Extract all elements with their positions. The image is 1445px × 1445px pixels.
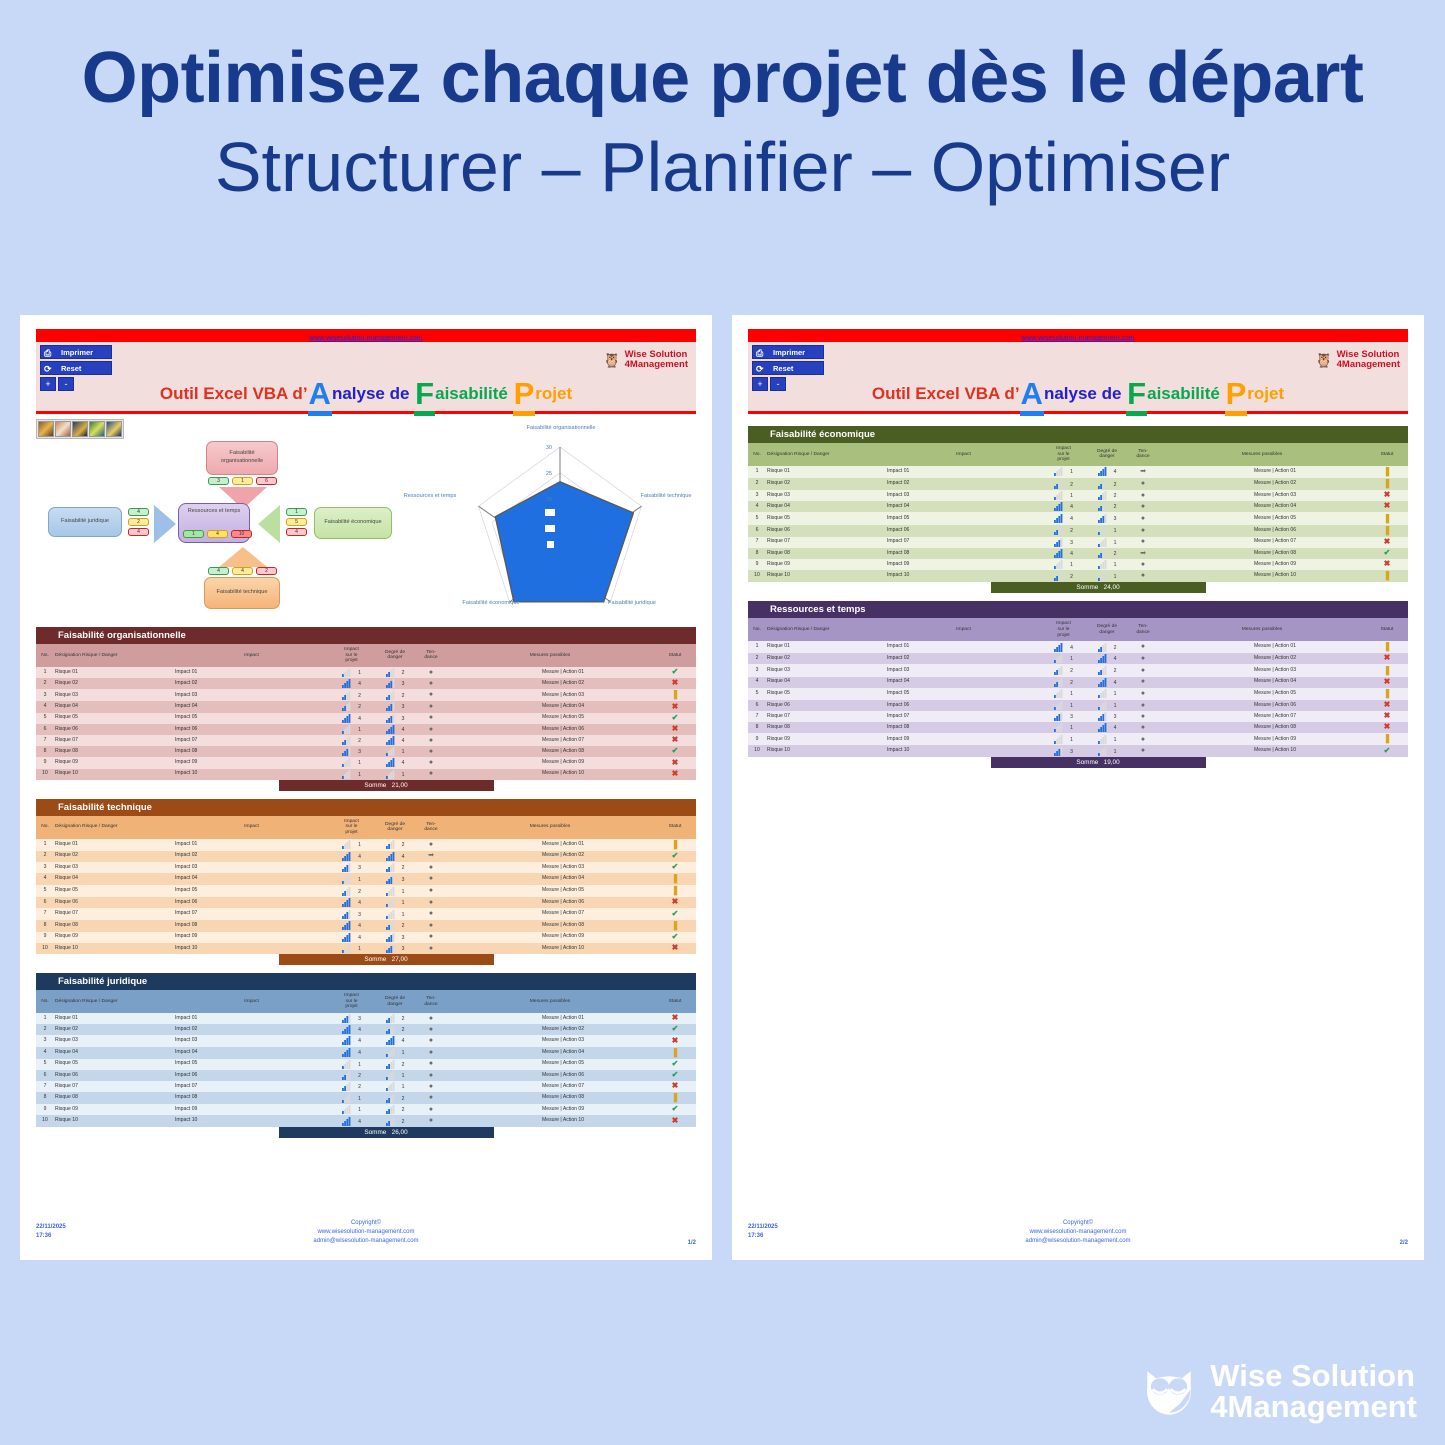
diagram-label-ressources: Ressources et temps (179, 504, 249, 515)
table-row[interactable]: 8Risque 08Impact 0842➡Mesure | Action 08… (748, 548, 1408, 559)
cell-impact: Impact 10 (174, 769, 329, 780)
cell-no: 5 (36, 885, 54, 897)
cell-mesure: Mesure | Action 01 (446, 839, 654, 851)
cell-risk: Risque 07 (766, 537, 886, 548)
cell-tendance: ● (416, 757, 446, 768)
cell-tendance: ● (1128, 478, 1158, 490)
cell-risk: Risque 07 (54, 908, 174, 919)
status-fail-icon: ✖ (672, 1081, 679, 1090)
level-bar-icon (386, 921, 395, 930)
cell-risk: Risque 01 (766, 641, 886, 653)
somme-label: Somme (364, 956, 386, 963)
title-cap-f: F (1126, 376, 1147, 416)
cell-tendance: ● (416, 1104, 446, 1115)
trend-stable-icon: ● (429, 770, 433, 777)
col-impact: Impact (174, 644, 329, 667)
cell-impact: Impact 01 (174, 839, 329, 851)
cell-degre-danger: 2 (374, 689, 416, 701)
cell-risk: Risque 10 (54, 1115, 174, 1126)
cell-no: 1 (748, 466, 766, 478)
table-row[interactable]: 4Risque 04Impact 0442●Mesure | Action 04… (748, 501, 1408, 512)
table-row[interactable]: 3Risque 03Impact 0332●Mesure | Action 03… (36, 862, 696, 873)
cell-impact-projet: 4 (1041, 641, 1086, 653)
trend-stable-icon: ● (429, 691, 433, 698)
cell-risk: Risque 09 (54, 757, 174, 768)
table-row[interactable]: 4Risque 04Impact 0424●Mesure | Action 04… (748, 677, 1408, 688)
cell-tendance: ● (416, 735, 446, 746)
cell-impact: Impact 04 (174, 701, 329, 712)
cell-no: 3 (36, 689, 54, 701)
col-impact-projet: Impactsur leprojet (329, 816, 374, 839)
footer-email[interactable]: admin@wisesolution-management.com (748, 1237, 1408, 1246)
cell-impact: Impact 01 (174, 667, 329, 678)
cell-degre-danger: 1 (374, 769, 416, 780)
title-cap-p: P (513, 376, 536, 416)
cell-impact-projet: 4 (329, 1024, 374, 1035)
level-bar-icon (342, 933, 351, 942)
wise-solution-watermark-logo: Wise Solution 4Management (1140, 1360, 1417, 1423)
cell-mesure: Mesure | Action 02 (1158, 653, 1366, 664)
trend-stable-icon: ● (429, 1072, 433, 1079)
table-row[interactable]: 5Risque 05Impact 0521●Mesure | Action 05… (36, 885, 696, 897)
table-row[interactable]: 10Risque 10Impact 1013●Mesure | Action 1… (36, 943, 696, 954)
level-bar-icon (1098, 654, 1107, 663)
trend-flat-icon: ● (429, 1117, 433, 1124)
level-bar-icon (1098, 526, 1107, 535)
cell-tendance: ● (1128, 559, 1158, 570)
footer-email[interactable]: admin@wisesolution-management.com (36, 1237, 696, 1246)
cell-impact-projet: 1 (1041, 688, 1086, 700)
footer-website[interactable]: www.wisesolution-management.com (748, 1228, 1408, 1237)
diagram-box-ressources: Ressources et temps 1 4 10 (178, 503, 250, 543)
brand-name-line-2: 4Management (1337, 360, 1400, 370)
cell-no: 8 (36, 1092, 54, 1104)
website-link[interactable]: www.wisesolution-management.com (1021, 335, 1134, 342)
status-ok-icon: ✔ (672, 1059, 679, 1068)
cell-impact-projet: 4 (329, 1047, 374, 1059)
table-row[interactable]: 5Risque 05Impact 0512●Mesure | Action 05… (36, 1059, 696, 1070)
risk-table: Faisabilité économiqueNo.Désignation Ris… (748, 426, 1408, 593)
cell-impact: Impact 09 (886, 559, 1041, 570)
status-fail-icon: ✖ (672, 1036, 679, 1045)
cell-degre-danger: 2 (1086, 641, 1128, 653)
cell-mesure: Mesure | Action 02 (1158, 478, 1366, 490)
cell-tendance: ● (416, 1070, 446, 1081)
table-row[interactable]: 10Risque 10Impact 1031●Mesure | Action 1… (748, 745, 1408, 756)
cell-impact: Impact 03 (174, 689, 329, 701)
cell-statut: ❚ (1366, 641, 1408, 653)
cell-mesure: Mesure | Action 06 (446, 724, 654, 735)
cell-impact-projet: 3 (329, 1013, 374, 1024)
level-bar-icon (386, 1060, 395, 1069)
cell-no: 6 (748, 700, 766, 711)
table-row[interactable]: 7Risque 07Impact 0724●Mesure | Action 07… (36, 735, 696, 746)
cell-statut: ✔ (1366, 745, 1408, 756)
cell-degre-danger: 2 (1086, 490, 1128, 501)
cell-impact-projet: 4 (329, 932, 374, 943)
table-row[interactable]: 2Risque 02Impact 0214●Mesure | Action 02… (748, 653, 1408, 664)
table-row[interactable]: 5Risque 05Impact 0543●Mesure | Action 05… (36, 713, 696, 724)
level-bar-icon (342, 863, 351, 872)
cell-statut: ❚ (654, 873, 696, 885)
badge-green: 3 (208, 477, 229, 485)
table-row[interactable]: 5Risque 05Impact 0543●Mesure | Action 05… (748, 512, 1408, 524)
col-impact: Impact (174, 816, 329, 839)
table-row[interactable]: 2Risque 02Impact 0222●Mesure | Action 02… (748, 478, 1408, 490)
diagram-label-juridique: Faisabilité juridique (61, 518, 109, 526)
status-fail-icon: ✖ (672, 678, 679, 687)
table-row[interactable]: 1Risque 01Impact 0112●Mesure | Action 01… (36, 839, 696, 851)
cell-tendance: ● (416, 724, 446, 735)
brand-logo-header: 🦉 Wise Solution 4Management (603, 350, 688, 370)
trend-stable-icon: ● (1141, 515, 1145, 522)
col-no: No. (36, 816, 54, 839)
trend-stable-icon: ● (429, 875, 433, 882)
trend-stable-icon: ● (429, 1060, 433, 1067)
cell-tendance: ● (416, 1092, 446, 1104)
cell-no: 6 (748, 525, 766, 537)
table-row[interactable]: 6Risque 06Impact 0641●Mesure | Action 06… (36, 897, 696, 908)
footer-page-number: 1/2 (688, 1240, 696, 1246)
table-row[interactable]: 1Risque 01Impact 0112●Mesure | Action 01… (36, 667, 696, 678)
cell-impact-projet: 1 (1041, 733, 1086, 745)
cell-tendance: ● (416, 701, 446, 712)
trend-stable-icon: ● (1141, 724, 1145, 731)
cell-impact-projet: 1 (1041, 490, 1086, 501)
trend-stable-icon: ● (1141, 503, 1145, 510)
cell-mesure: Mesure | Action 01 (446, 667, 654, 678)
cell-degre-danger: 1 (374, 1047, 416, 1059)
trend-stable-icon: ● (1141, 480, 1145, 487)
cell-degre-danger: 1 (374, 908, 416, 919)
table-row[interactable]: 8Risque 08Impact 0814●Mesure | Action 08… (748, 722, 1408, 733)
table-row[interactable]: 7Risque 07Impact 0731●Mesure | Action 07… (748, 537, 1408, 548)
cell-statut: ❚ (654, 1092, 696, 1104)
cell-mesure: Mesure | Action 10 (1158, 745, 1366, 756)
cell-impact-projet: 2 (1041, 664, 1086, 676)
table-row[interactable]: 4Risque 04Impact 0441●Mesure | Action 04… (36, 1047, 696, 1059)
table-row[interactable]: 7Risque 07Impact 0733●Mesure | Action 07… (748, 711, 1408, 722)
table-row[interactable]: 2Risque 02Impact 0243●Mesure | Action 02… (36, 678, 696, 689)
cell-impact: Impact 10 (174, 1115, 329, 1126)
level-bar-icon (1054, 735, 1063, 744)
cell-impact: Impact 04 (174, 873, 329, 885)
badge-green: 4 (128, 508, 149, 516)
status-warning-icon: ❚ (1384, 570, 1391, 580)
title-word-projet: rojet (1247, 384, 1284, 403)
col-no: No. (36, 990, 54, 1013)
status-fail-icon: ✖ (672, 943, 679, 952)
cell-mesure: Mesure | Action 09 (1158, 559, 1366, 570)
cell-degre-danger: 3 (374, 713, 416, 724)
diagram-box-organisationnelle: Faisabilité organisationnelle (206, 441, 278, 475)
cell-degre-danger: 1 (374, 885, 416, 897)
level-bar-icon (1098, 712, 1107, 721)
title-cap-a: A (308, 376, 332, 416)
trend-stable-icon: ● (429, 669, 433, 676)
cell-no: 1 (36, 839, 54, 851)
cell-risk: Risque 08 (54, 746, 174, 757)
table-row[interactable]: 10Risque 10Impact 1011●Mesure | Action 1… (36, 769, 696, 780)
cell-tendance: ● (416, 1115, 446, 1126)
level-bar-icon (342, 679, 351, 688)
level-bar-icon (342, 758, 351, 767)
status-fail-icon: ✖ (1384, 490, 1391, 499)
radar-axis-label-economique: Faisabilité économique (462, 600, 520, 607)
cell-impact: Impact 05 (174, 713, 329, 724)
table-title: Faisabilité technique (36, 799, 696, 816)
cell-impact-projet: 1 (329, 724, 374, 735)
badge-red: 4 (286, 528, 307, 536)
status-fail-icon: ✖ (672, 735, 679, 744)
somme-value: 26,00 (392, 1129, 408, 1136)
cell-degre-danger: 1 (374, 1070, 416, 1081)
footer-website[interactable]: www.wisesolution-management.com (36, 1228, 696, 1237)
level-bar-icon (386, 1094, 395, 1103)
cell-impact: Impact 03 (174, 862, 329, 873)
status-fail-icon: ✖ (1384, 711, 1391, 720)
diagram-box-technique: Faisabilité technique (204, 577, 280, 609)
cell-impact: Impact 08 (174, 920, 329, 932)
table-row[interactable]: 7Risque 07Impact 0731●Mesure | Action 07… (36, 908, 696, 919)
table-row[interactable]: 8Risque 08Impact 0812●Mesure | Action 08… (36, 1092, 696, 1104)
cell-no: 4 (748, 677, 766, 688)
cell-no: 8 (36, 920, 54, 932)
table-row[interactable]: 1Risque 01Impact 0132●Mesure | Action 01… (36, 1013, 696, 1024)
table-row[interactable]: 6Risque 06Impact 0621●Mesure | Action 06… (36, 1070, 696, 1081)
cell-impact: Impact 02 (174, 1024, 329, 1035)
badge-red: 10 (231, 530, 252, 538)
level-bar-icon (386, 1105, 395, 1114)
cell-no: 9 (748, 733, 766, 745)
tool-header-band: ⎙ Imprimer ⟳ Reset + - 🦉 Wise Solution 4… (36, 342, 696, 414)
table-title: Faisabilité organisationnelle (36, 627, 696, 644)
cell-tendance: ● (1128, 722, 1158, 733)
cell-impact: Impact 04 (886, 501, 1041, 512)
cell-impact-projet: 4 (329, 897, 374, 908)
level-bar-icon (1098, 572, 1107, 581)
cell-mesure: Mesure | Action 03 (446, 689, 654, 701)
table-row[interactable]: 6Risque 06Impact 0614●Mesure | Action 06… (36, 724, 696, 735)
cell-impact-projet: 4 (1041, 501, 1086, 512)
cell-degre-danger: 3 (374, 932, 416, 943)
trend-stable-icon: ● (429, 1094, 433, 1101)
cell-impact: Impact 06 (886, 700, 1041, 711)
cell-mesure: Mesure | Action 09 (446, 757, 654, 768)
document-page-1[interactable]: www.wisesolution-management.com ⎙ Imprim… (20, 315, 712, 1260)
cell-mesure: Mesure | Action 01 (1158, 641, 1366, 653)
table-row[interactable]: 6Risque 06Impact 0611●Mesure | Action 06… (748, 700, 1408, 711)
table-row[interactable]: 4Risque 04Impact 0413●Mesure | Action 04… (36, 873, 696, 885)
cell-degre-danger: 3 (1086, 512, 1128, 524)
cell-degre-danger: 2 (1086, 664, 1128, 676)
level-bar-icon (386, 1036, 395, 1045)
title-cap-f: F (414, 376, 435, 416)
table-total-row: Somme 24,00 (748, 582, 1408, 593)
trend-flat-icon: ● (1141, 561, 1145, 568)
cell-statut: ✔ (654, 713, 696, 724)
cell-mesure: Mesure | Action 07 (446, 1081, 654, 1092)
table-row[interactable]: 3Risque 03Impact 0312●Mesure | Action 03… (748, 490, 1408, 501)
cell-risk: Risque 09 (766, 559, 886, 570)
print-button[interactable]: ⎙ Imprimer (752, 345, 824, 359)
cell-statut: ❚ (654, 885, 696, 897)
level-bar-icon (342, 736, 351, 745)
table-row[interactable]: 6Risque 06Impact 0621●Mesure | Action 06… (748, 525, 1408, 537)
cell-no: 10 (36, 769, 54, 780)
table-row[interactable]: 10Risque 10Impact 1021●Mesure | Action 1… (748, 570, 1408, 582)
website-link[interactable]: www.wisesolution-management.com (309, 335, 422, 342)
cell-mesure: Mesure | Action 07 (1158, 537, 1366, 548)
level-bar-icon (342, 1071, 351, 1080)
table-row[interactable]: 8Risque 08Impact 0831●Mesure | Action 08… (36, 746, 696, 757)
table-row[interactable]: 3Risque 03Impact 0344●Mesure | Action 03… (36, 1035, 696, 1046)
cell-impact-projet: 2 (1041, 677, 1086, 688)
cell-impact-projet: 1 (1041, 722, 1086, 733)
cell-no: 9 (748, 559, 766, 570)
footer-date: 22/11/2025 (36, 1223, 66, 1232)
level-bar-icon (386, 691, 395, 700)
col-degre-danger: Degré dedanger (374, 644, 416, 667)
trend-stable-icon: ● (1141, 736, 1145, 743)
level-bar-icon (1098, 747, 1107, 756)
cell-no: 6 (36, 1070, 54, 1081)
cell-impact: Impact 06 (174, 897, 329, 908)
trend-stable-icon: ● (429, 899, 433, 906)
cell-statut: ✖ (654, 757, 696, 768)
cell-no: 7 (36, 908, 54, 919)
cell-impact-projet: 4 (329, 1035, 374, 1046)
col-tendance: Ten-dance (1128, 443, 1158, 466)
cell-impact-projet: 4 (329, 851, 374, 862)
cell-mesure: Mesure | Action 09 (446, 1104, 654, 1115)
col-impact: Impact (174, 990, 329, 1013)
trend-stable-icon: ● (1141, 655, 1145, 662)
cell-degre-danger: 4 (374, 724, 416, 735)
somme-label: Somme (364, 782, 386, 789)
cell-statut: ✖ (1366, 700, 1408, 711)
cell-degre-danger: 1 (374, 897, 416, 908)
level-bar-icon (386, 725, 395, 734)
table-row[interactable]: 1Risque 01Impact 0114➡Mesure | Action 01… (748, 466, 1408, 478)
table-row[interactable]: 9Risque 09Impact 0914●Mesure | Action 09… (36, 757, 696, 768)
cell-statut: ✖ (1366, 501, 1408, 512)
level-bar-icon (386, 910, 395, 919)
cell-degre-danger: 2 (1086, 501, 1128, 512)
title-cap-p: P (1225, 376, 1248, 416)
document-page-2[interactable]: www.wisesolution-management.com ⎙ Imprim… (732, 315, 1424, 1260)
print-button-label: Imprimer (61, 348, 93, 357)
table-row[interactable]: 2Risque 02Impact 0242●Mesure | Action 02… (36, 1024, 696, 1035)
table-row[interactable]: 9Risque 09Impact 0912●Mesure | Action 09… (36, 1104, 696, 1115)
col-risk: Désignation Risque / Danger (54, 990, 174, 1013)
trend-stable-icon: ● (429, 748, 433, 755)
table-row[interactable]: 3Risque 03Impact 0322●Mesure | Action 03… (748, 664, 1408, 676)
footer-date: 22/11/2025 (748, 1223, 778, 1232)
level-bar-icon (1054, 666, 1063, 675)
cell-statut: ✔ (654, 932, 696, 943)
table-row[interactable]: 5Risque 05Impact 0511●Mesure | Action 05… (748, 688, 1408, 700)
cell-no: 2 (748, 653, 766, 664)
title-word-faisabilite: aisabilité (1147, 384, 1220, 403)
badge-yellow: 5 (286, 518, 307, 526)
table-row[interactable]: 9Risque 09Impact 0911●Mesure | Action 09… (748, 733, 1408, 745)
table-row[interactable]: 7Risque 07Impact 0721●Mesure | Action 07… (36, 1081, 696, 1092)
cell-mesure: Mesure | Action 10 (446, 943, 654, 954)
trend-flat-icon: ● (429, 922, 433, 929)
cell-no: 2 (36, 851, 54, 862)
cell-tendance: ● (1128, 537, 1158, 548)
status-fail-icon: ✖ (1384, 722, 1391, 731)
cell-tendance: ● (416, 897, 446, 908)
level-bar-icon (1054, 560, 1063, 569)
level-bar-icon (342, 910, 351, 919)
cell-risk: Risque 08 (54, 920, 174, 932)
cell-degre-danger: 4 (1086, 677, 1128, 688)
level-bar-icon (1054, 526, 1063, 535)
cell-statut: ✔ (654, 851, 696, 862)
cell-no: 5 (36, 1059, 54, 1070)
cell-tendance: ● (1128, 733, 1158, 745)
cell-risk: Risque 10 (766, 570, 886, 582)
table-row[interactable]: 8Risque 08Impact 0842●Mesure | Action 08… (36, 920, 696, 932)
level-bar-icon (386, 702, 395, 711)
level-bar-icon (342, 944, 351, 953)
status-warning-icon: ❚ (1384, 641, 1391, 651)
owl-icon: 🦉 (1315, 353, 1332, 367)
trend-stable-icon: ● (1141, 667, 1145, 674)
cell-impact: Impact 02 (174, 851, 329, 862)
diagram-label-organisationnelle: Faisabilité organisationnelle (209, 450, 275, 465)
table-row[interactable]: 9Risque 09Impact 0911●Mesure | Action 09… (748, 559, 1408, 570)
table-row[interactable]: 10Risque 10Impact 1042●Mesure | Action 1… (36, 1115, 696, 1126)
level-bar-icon (342, 1025, 351, 1034)
level-bar-icon (1054, 491, 1063, 500)
cell-impact: Impact 03 (886, 664, 1041, 676)
table-title: Faisabilité économique (748, 426, 1408, 443)
cell-degre-danger: 1 (1086, 700, 1128, 711)
trend-stable-icon: ● (429, 680, 433, 687)
level-bar-icon (1054, 654, 1063, 663)
status-fail-icon: ✖ (1384, 559, 1391, 568)
cell-statut: ✖ (654, 943, 696, 954)
col-tendance: Ten-dance (416, 816, 446, 839)
cell-tendance: ● (416, 839, 446, 851)
cell-tendance: ● (416, 1059, 446, 1070)
table-row[interactable]: 2Risque 02Impact 0244➡Mesure | Action 02… (36, 851, 696, 862)
cell-no: 3 (36, 1035, 54, 1046)
risk-table-grid: No.Désignation Risque / DangerImpactImpa… (748, 618, 1408, 756)
risk-table: Ressources et tempsNo.Désignation Risque… (748, 601, 1408, 767)
table-row[interactable]: 9Risque 09Impact 0943●Mesure | Action 09… (36, 932, 696, 943)
print-button[interactable]: ⎙ Imprimer (40, 345, 112, 359)
level-bar-icon (1054, 678, 1063, 687)
table-row[interactable]: 4Risque 04Impact 0423●Mesure | Action 04… (36, 701, 696, 712)
diagram-badges-organisationnelle: 3 1 6 (208, 477, 277, 485)
page-headline: Optimisez chaque projet dès le départ St… (0, 0, 1445, 202)
cell-statut: ✖ (654, 1081, 696, 1092)
radar-svg: 30 25 20 (400, 425, 690, 625)
feasibility-radar-chart: 30 25 20 Faisabilité organisationnelle F… (400, 425, 690, 625)
table-row[interactable]: 1Risque 01Impact 0142●Mesure | Action 01… (748, 641, 1408, 653)
radar-axis-label-ressources: Ressources et temps (402, 493, 458, 500)
footer-copyright: Copyright© (748, 1219, 1408, 1228)
level-bar-icon (1098, 514, 1107, 523)
col-risk: Désignation Risque / Danger (54, 816, 174, 839)
level-bar-icon (1098, 467, 1107, 476)
level-bar-icon (386, 933, 395, 942)
table-row[interactable]: 3Risque 03Impact 0322●Mesure | Action 03… (36, 689, 696, 701)
